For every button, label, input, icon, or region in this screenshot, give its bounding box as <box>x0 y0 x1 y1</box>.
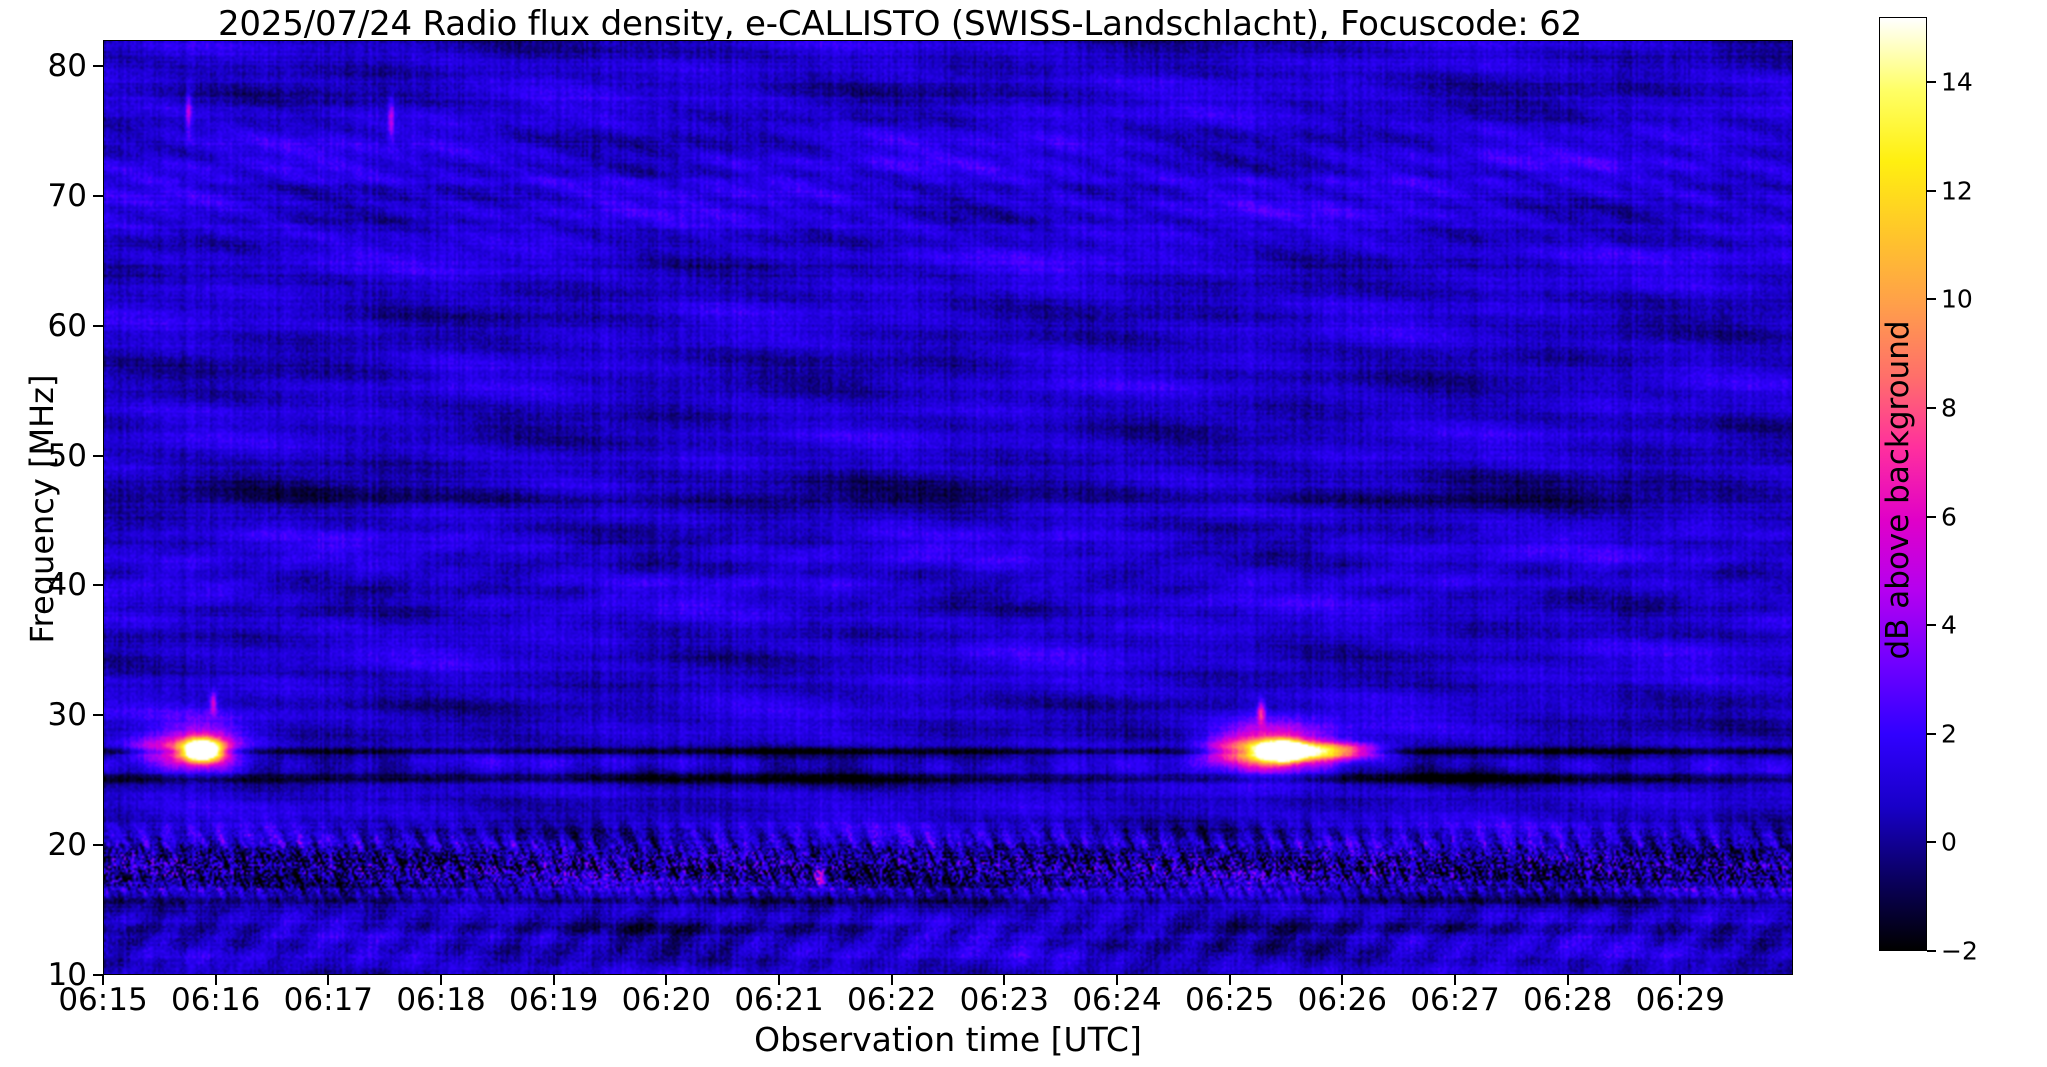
y-tick-mark <box>93 325 103 327</box>
x-tick-label: 06:29 <box>1600 982 1760 1018</box>
colorbar-tick-label: 8 <box>1941 393 1957 422</box>
colorbar-label: dB above background <box>1880 190 1916 790</box>
spectrogram-figure: 2025/07/24 Radio flux density, e-CALLIST… <box>0 0 2047 1067</box>
colorbar-tick-mark <box>1927 407 1936 409</box>
x-axis-label: Observation time [UTC] <box>103 1020 1793 1059</box>
colorbar-tick-mark <box>1927 950 1936 952</box>
y-tick-mark <box>93 844 103 846</box>
x-tick-mark <box>1679 975 1681 985</box>
x-tick-mark <box>215 975 217 985</box>
x-tick-mark <box>327 975 329 985</box>
y-tick-label: 70 <box>7 178 87 214</box>
x-tick-mark <box>665 975 667 985</box>
x-tick-mark <box>778 975 780 985</box>
y-tick-mark <box>93 584 103 586</box>
colorbar-tick-mark <box>1927 81 1936 83</box>
x-tick-mark <box>440 975 442 985</box>
colorbar-tick-mark <box>1927 624 1936 626</box>
x-tick-mark <box>553 975 555 985</box>
colorbar-tick-label: 10 <box>1941 285 1973 314</box>
x-tick-mark <box>1454 975 1456 985</box>
y-tick-mark <box>93 714 103 716</box>
y-tick-mark <box>93 195 103 197</box>
colorbar-tick-label: 2 <box>1941 719 1957 748</box>
x-tick-mark <box>1341 975 1343 985</box>
spectrogram-plot-area <box>103 40 1793 975</box>
x-tick-mark <box>102 975 104 985</box>
colorbar-tick-label: 14 <box>1941 68 1973 97</box>
x-tick-mark <box>1567 975 1569 985</box>
colorbar-tick-mark <box>1927 190 1936 192</box>
y-tick-label: 80 <box>7 48 87 84</box>
colorbar-tick-mark <box>1927 841 1936 843</box>
spectrogram-image <box>104 41 1793 975</box>
colorbar-tick-mark <box>1927 298 1936 300</box>
colorbar-tick-mark <box>1927 516 1936 518</box>
colorbar-tick-label: 6 <box>1941 502 1957 531</box>
colorbar-tick-label: 4 <box>1941 611 1957 640</box>
x-tick-mark <box>891 975 893 985</box>
colorbar-tick-label: 12 <box>1941 176 1973 205</box>
x-tick-mark <box>1229 975 1231 985</box>
y-axis-label: Frequency [MHz] <box>23 229 61 789</box>
colorbar-tick-label: −2 <box>1941 937 1978 966</box>
y-tick-label: 20 <box>7 827 87 863</box>
x-tick-mark <box>1116 975 1118 985</box>
x-tick-mark <box>1003 975 1005 985</box>
colorbar-tick-mark <box>1927 733 1936 735</box>
colorbar-tick-label: 0 <box>1941 828 1957 857</box>
y-tick-mark <box>93 65 103 67</box>
page-title: 2025/07/24 Radio flux density, e-CALLIST… <box>0 4 1800 44</box>
y-tick-mark <box>93 455 103 457</box>
